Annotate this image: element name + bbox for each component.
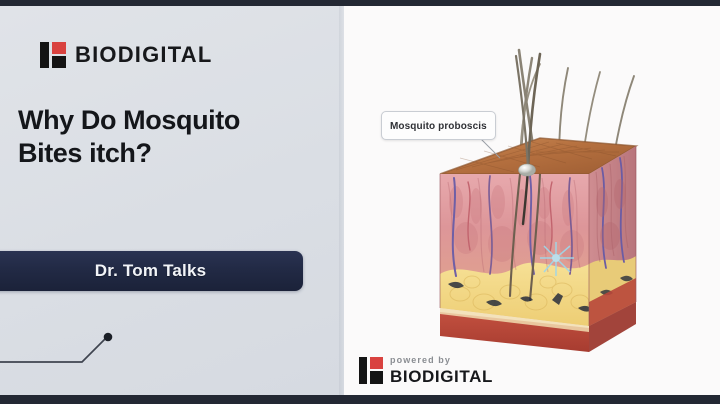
callout-label: Mosquito proboscis <box>390 121 487 132</box>
biodigital-logo-icon <box>359 357 383 384</box>
logo-square-red <box>370 357 383 369</box>
skin-cross-section-3d-model[interactable] <box>344 6 720 395</box>
leader-line-dot-icon <box>0 328 130 374</box>
series-badge-label: Dr. Tom Talks <box>81 261 207 281</box>
biodigital-logo-icon <box>40 42 66 68</box>
brand-wordmark: BIODIGITAL <box>75 44 212 66</box>
logo-bar-left <box>40 42 49 68</box>
logo-square-black <box>370 371 383 384</box>
powered-by-biodigital[interactable]: powered by BIODIGITAL <box>359 356 493 385</box>
logo-square-red <box>52 42 66 54</box>
slide-headline: Why Do Mosquito Bites itch? <box>18 104 318 170</box>
brand-logo: BIODIGITAL <box>40 42 212 68</box>
letterbox-bar-bottom <box>0 395 720 404</box>
right-model-panel[interactable]: Mosquito proboscis powered by BIODIGITAL <box>344 6 720 395</box>
series-badge[interactable]: Dr. Tom Talks <box>0 251 303 291</box>
left-title-panel: BIODIGITAL Why Do Mosquito Bites itch? D… <box>0 6 344 395</box>
powered-by-text: powered by BIODIGITAL <box>390 356 493 385</box>
logo-bar-left <box>359 357 367 384</box>
logo-square-black <box>52 56 66 68</box>
powered-by-wordmark: BIODIGITAL <box>390 368 493 385</box>
callout-mosquito-proboscis[interactable]: Mosquito proboscis <box>381 111 496 140</box>
powered-by-label: powered by <box>390 356 493 365</box>
presentation-slide: BIODIGITAL Why Do Mosquito Bites itch? D… <box>0 0 720 404</box>
